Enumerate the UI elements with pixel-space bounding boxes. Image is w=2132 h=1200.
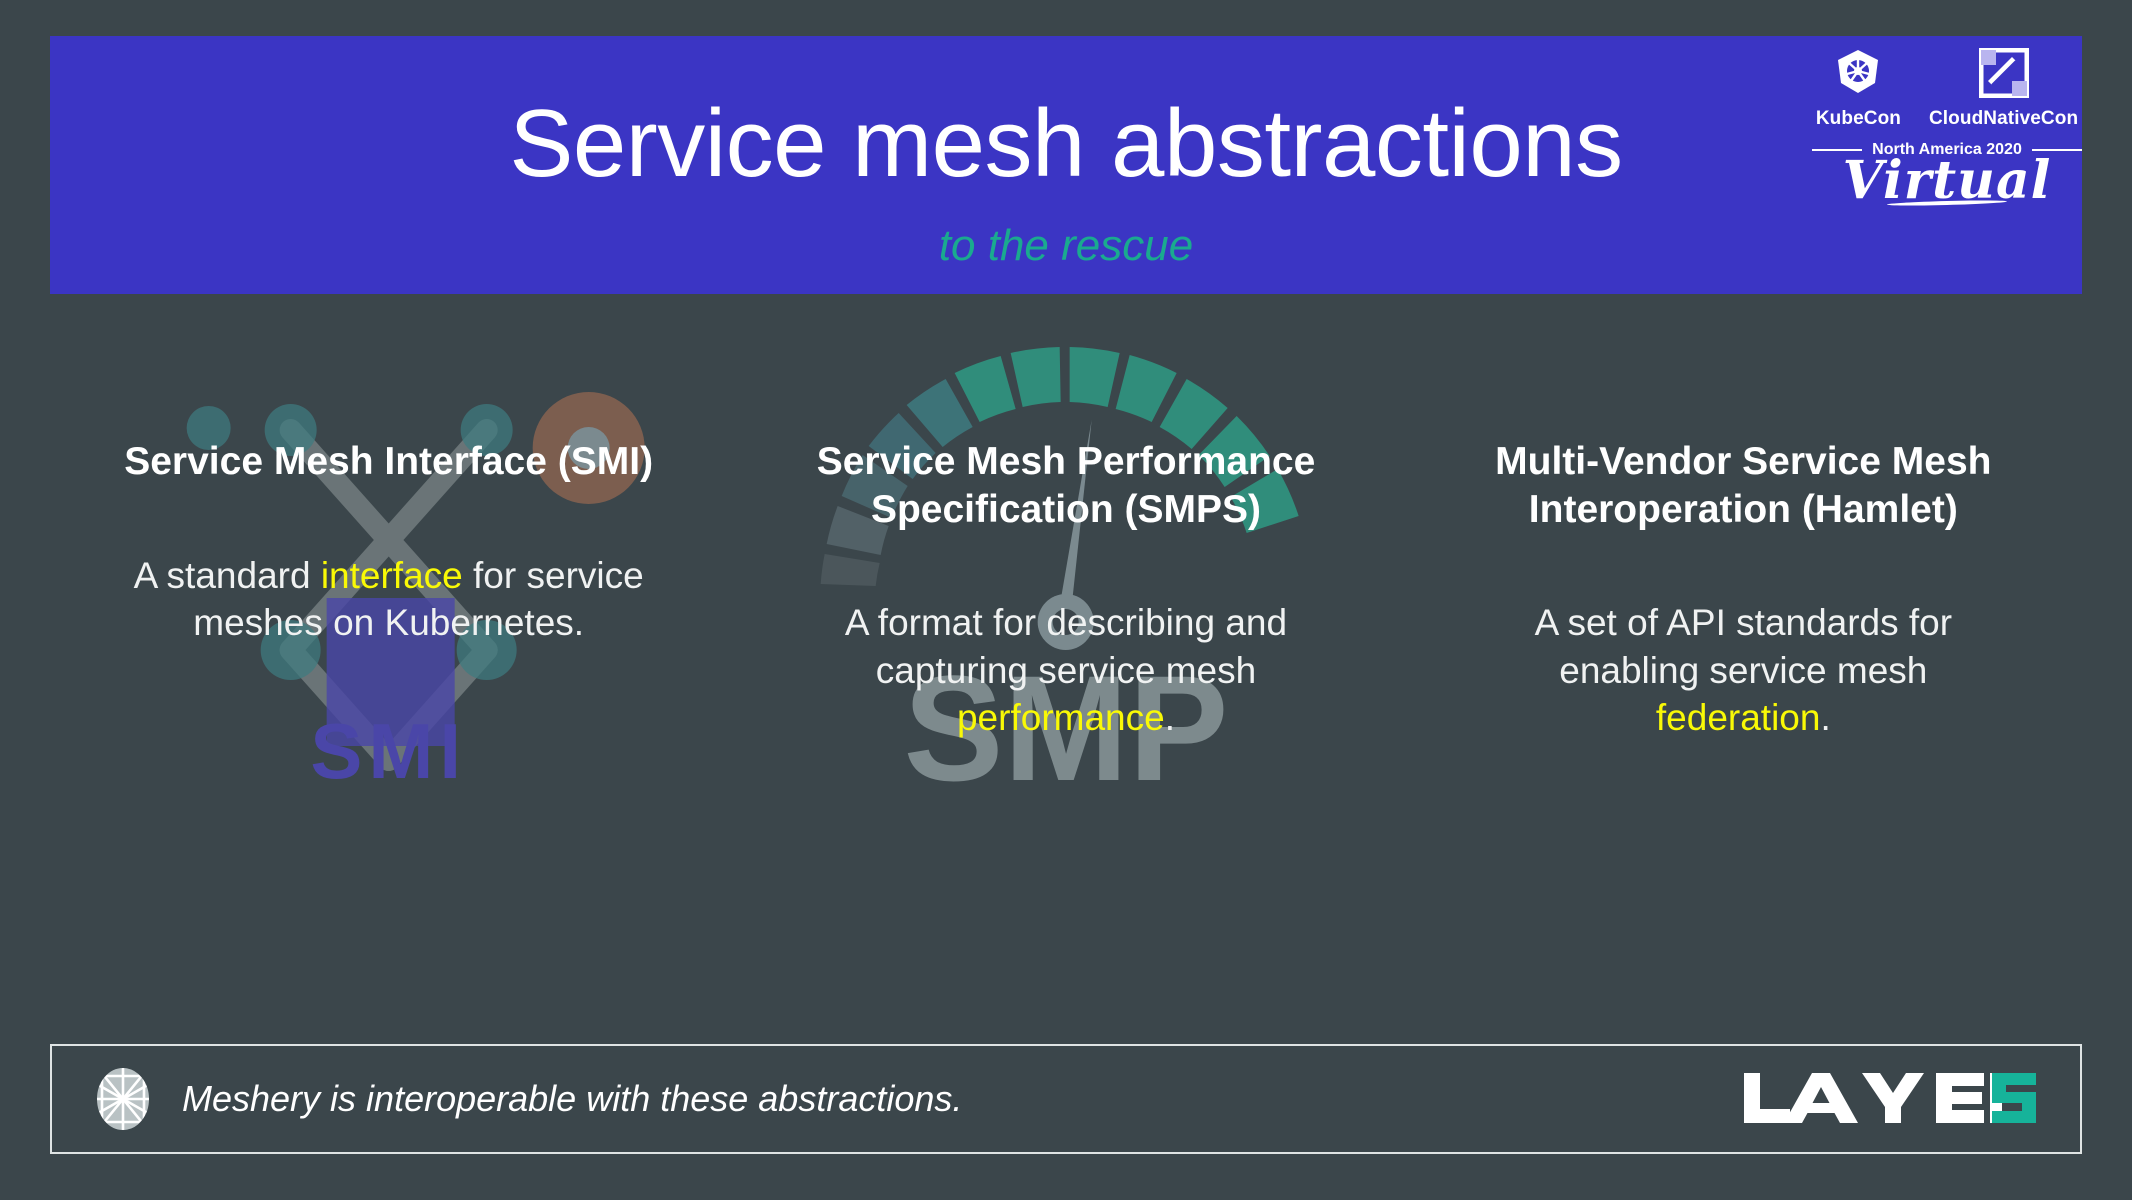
cloudnativecon-label: CloudNativeCon bbox=[1929, 108, 2078, 130]
kubernetes-helm-icon bbox=[1832, 45, 1884, 101]
column-title-hamlet: Multi-Vendor Service Mesh Interoperation… bbox=[1432, 438, 2055, 533]
body-text-run: A set of API standards for enabling serv… bbox=[1535, 602, 1953, 690]
body-text-run: A format for describing and capturing se… bbox=[845, 602, 1287, 690]
body-text-run: A standard bbox=[134, 555, 321, 596]
column-body-hamlet: A set of API standards for enabling serv… bbox=[1472, 599, 2014, 741]
layer5-logo bbox=[1740, 1069, 2040, 1129]
meshery-icon bbox=[92, 1064, 154, 1134]
kubecon-virtual-label: Virtual bbox=[1812, 155, 2082, 207]
highlighted-term: interface bbox=[321, 555, 463, 596]
highlighted-term: federation bbox=[1656, 697, 1821, 738]
column-smps: SMP Service Mesh Performance Specificati… bbox=[727, 330, 1404, 980]
column-title-smps: Service Mesh Performance Specification (… bbox=[754, 438, 1377, 533]
header-banner: Service mesh abstractions to the rescue bbox=[50, 36, 2082, 294]
abstractions-columns: SMI Service Mesh Interface (SMI) A stand… bbox=[50, 330, 2082, 980]
smi-watermark-art bbox=[50, 330, 727, 980]
highlighted-term: performance bbox=[957, 697, 1165, 738]
kubecon-half: KubeCon bbox=[1802, 26, 1915, 130]
footer-bar: Meshery is interoperable with these abst… bbox=[50, 1044, 2082, 1154]
column-body-smps: A format for describing and capturing se… bbox=[795, 599, 1337, 741]
footer-left-group: Meshery is interoperable with these abst… bbox=[92, 1064, 1740, 1134]
kubecon-label: KubeCon bbox=[1816, 108, 1901, 130]
column-smi: SMI Service Mesh Interface (SMI) A stand… bbox=[50, 330, 727, 980]
body-text-run: . bbox=[1820, 697, 1830, 738]
page-subtitle: to the rescue bbox=[50, 221, 2082, 271]
footer-caption: Meshery is interoperable with these abst… bbox=[182, 1078, 962, 1120]
cncf-square-icon bbox=[1979, 45, 2029, 101]
body-text-run: . bbox=[1165, 697, 1175, 738]
page-title: Service mesh abstractions bbox=[50, 94, 2082, 195]
column-hamlet: Multi-Vendor Service Mesh Interoperation… bbox=[1405, 330, 2082, 980]
cloudnativecon-half: CloudNativeCon bbox=[1915, 26, 2092, 130]
column-title-smi: Service Mesh Interface (SMI) bbox=[77, 438, 700, 486]
column-body-smi: A standard interface for service meshes … bbox=[118, 552, 660, 647]
smi-watermark-text: SMI bbox=[50, 706, 727, 797]
kubecon-cloudnativecon-logo: KubeCon CloudNativeCon North America 202… bbox=[1812, 26, 2082, 241]
kubecon-logo-row: KubeCon CloudNativeCon bbox=[1812, 26, 2082, 130]
